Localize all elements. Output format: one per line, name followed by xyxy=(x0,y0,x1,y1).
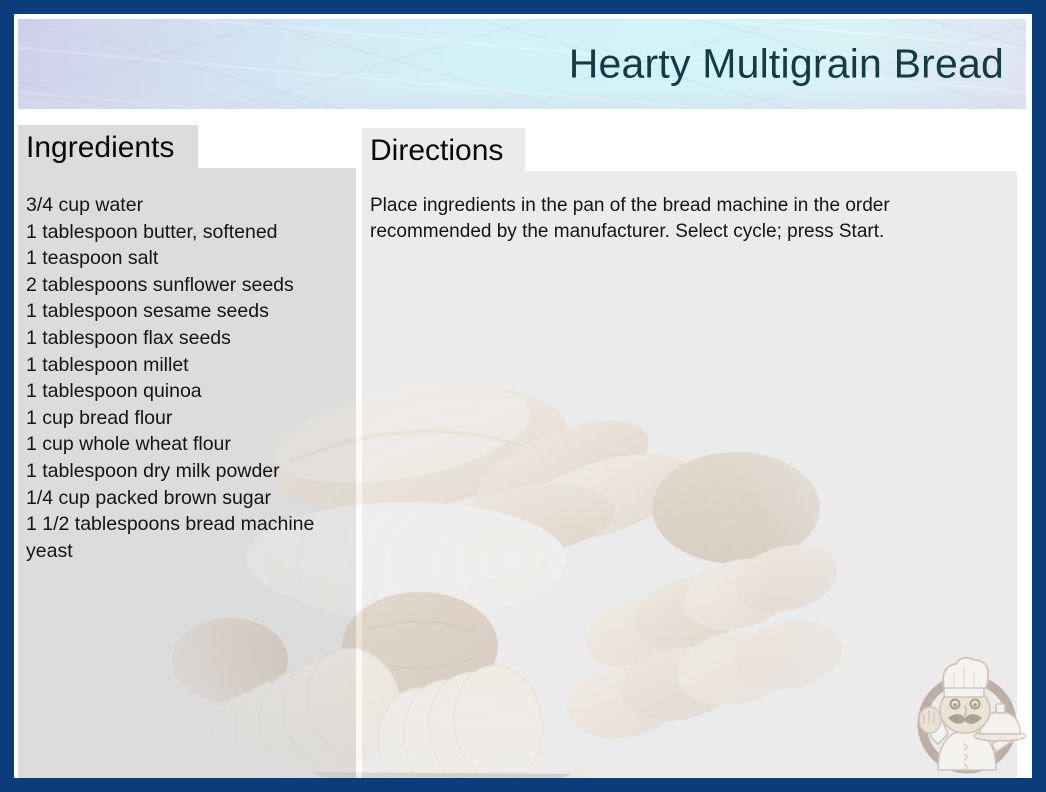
title-banner: Hearty Multigrain Bread xyxy=(18,19,1026,109)
directions-header-gap xyxy=(525,128,1017,171)
ingredient-item: 1 tablespoon flax seeds xyxy=(26,325,348,352)
ingredient-item: 2 tablespoons sunflower seeds xyxy=(26,272,348,299)
ingredients-header-gap xyxy=(198,125,356,168)
ingredient-item: 1 tablespoon butter, softened xyxy=(26,219,348,246)
ingredient-item: 1 1/2 tablespoons bread machine yeast xyxy=(26,511,348,564)
ingredient-item: 1 teaspoon salt xyxy=(26,245,348,272)
ingredient-item: 3/4 cup water xyxy=(26,192,348,219)
recipe-card: Hearty Multigrain Bread xyxy=(0,0,1046,792)
ingredients-list: 3/4 cup water1 tablespoon butter, soften… xyxy=(26,192,348,564)
ingredient-item: 1 cup whole wheat flour xyxy=(26,431,348,458)
directions-heading: Directions xyxy=(370,134,503,168)
ingredient-item: 1 tablespoon sesame seeds xyxy=(26,298,348,325)
ingredient-item: 1 tablespoon dry milk powder xyxy=(26,458,348,485)
ingredient-item: 1 tablespoon millet xyxy=(26,352,348,379)
ingredients-heading: Ingredients xyxy=(26,131,174,165)
ingredient-item: 1 tablespoon quinoa xyxy=(26,378,348,405)
directions-text: Place ingredients in the pan of the brea… xyxy=(370,193,970,245)
ingredient-item: 1/4 cup packed brown sugar xyxy=(26,485,348,512)
page-title: Hearty Multigrain Bread xyxy=(569,41,1004,88)
ingredient-item: 1 cup bread flour xyxy=(26,405,348,432)
